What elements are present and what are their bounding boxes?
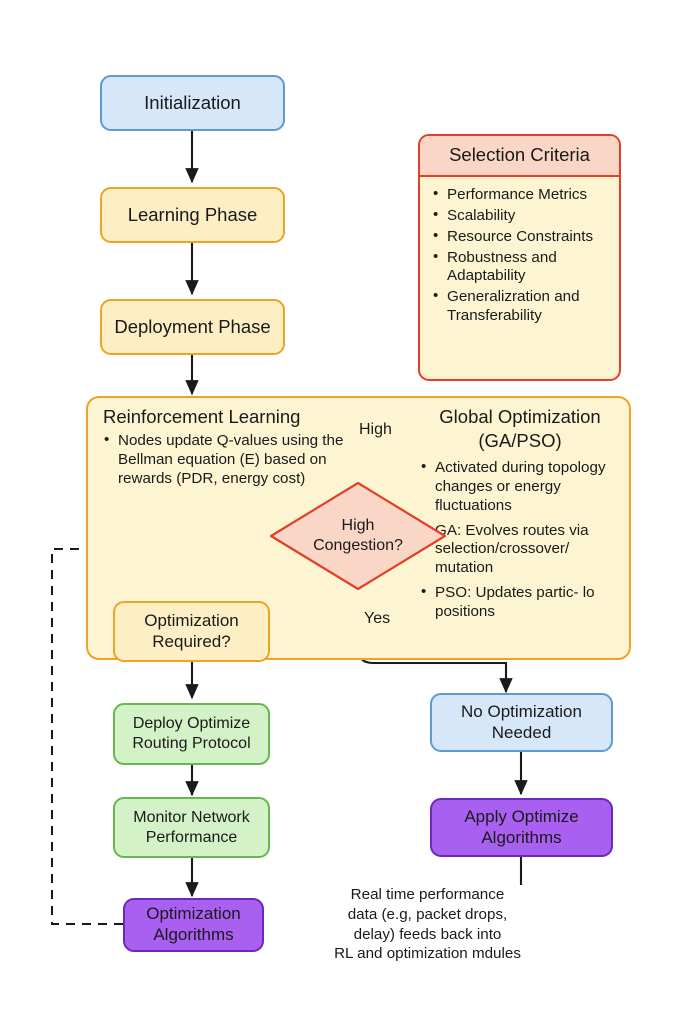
decision-label: High Congestion?	[268, 480, 448, 592]
flowchart-canvas: Initialization Learning Phase Deployment…	[0, 0, 685, 1027]
selection-criteria-card: Selection Criteria Performance Metrics S…	[418, 134, 621, 381]
selection-criteria-header: Selection Criteria	[420, 136, 619, 177]
node-no-optimization-line1: No Optimization	[461, 702, 582, 723]
node-deployment-phase-label: Deployment Phase	[114, 316, 270, 339]
list-item: Robustness and Adaptability	[432, 249, 609, 287]
node-initialization[interactable]: Initialization	[100, 75, 285, 131]
list-item: Scalability	[432, 207, 609, 226]
list-item: GA: Evolves routes via selection/crossov…	[420, 522, 620, 579]
node-no-optimization-needed[interactable]: No Optimization Needed	[430, 693, 613, 752]
global-optimization-list: Activated during topology changes or ene…	[420, 459, 620, 622]
node-optimization-algorithms-line1: Optimization	[146, 904, 240, 925]
selection-criteria-body: Performance Metrics Scalability Resource…	[420, 177, 619, 336]
feedback-caption-line4: RL and optimization mdules	[290, 944, 565, 964]
selection-criteria-list: Performance Metrics Scalability Resource…	[432, 186, 609, 326]
edge-label-yes: Yes	[364, 610, 390, 628]
node-deploy-routing-line2: Routing Protocol	[132, 734, 250, 754]
list-item: Activated during topology changes or ene…	[420, 459, 620, 516]
node-initialization-label: Initialization	[144, 92, 241, 115]
feedback-caption-line2: data (e.g, packet drops,	[290, 905, 565, 925]
feedback-caption-line3: delay) feeds back into	[290, 925, 565, 945]
node-deployment-phase[interactable]: Deployment Phase	[100, 299, 285, 355]
reinforcement-learning-heading: Reinforcement Learning	[103, 406, 348, 428]
node-optimization-algorithms-line2: Algorithms	[153, 925, 233, 946]
node-monitor-network-line2: Performance	[146, 828, 238, 848]
node-learning-phase[interactable]: Learning Phase	[100, 187, 285, 243]
decision-label-line2: Congestion?	[313, 536, 403, 556]
node-deploy-routing-protocol[interactable]: Deploy Optimize Routing Protocol	[113, 703, 270, 765]
node-optimization-required-line2: Required?	[152, 632, 230, 653]
reinforcement-learning-section: Reinforcement Learning Nodes update Q-va…	[103, 406, 348, 491]
global-optimization-section: Global Optimization (GA/PSO) Activated d…	[420, 406, 620, 624]
global-optimization-heading-line1: Global Optimization	[420, 406, 620, 428]
node-monitor-network-performance[interactable]: Monitor Network Performance	[113, 797, 270, 858]
node-monitor-network-line1: Monitor Network	[133, 808, 249, 828]
node-deploy-routing-line1: Deploy Optimize	[133, 714, 250, 734]
decision-high-congestion[interactable]: High Congestion?	[268, 480, 448, 592]
node-no-optimization-line2: Needed	[492, 723, 552, 744]
list-item: PSO: Updates partic- lo positions	[420, 584, 620, 622]
decision-label-line1: High	[342, 516, 375, 536]
edge-label-high: High	[359, 421, 392, 439]
feedback-caption: Real time performance data (e.g, packet …	[290, 885, 565, 964]
list-item: Generalizration and Transferability	[432, 288, 609, 326]
global-optimization-heading-line2: (GA/PSO)	[420, 430, 620, 452]
node-optimization-algorithms[interactable]: Optimization Algorithms	[123, 898, 264, 952]
node-apply-optimize-algorithms[interactable]: Apply Optimize Algorithms	[430, 798, 613, 857]
node-apply-optimize-line1: Apply Optimize	[464, 807, 578, 828]
list-item: Performance Metrics	[432, 186, 609, 205]
list-item: Resource Constraints	[432, 228, 609, 247]
feedback-caption-line1: Real time performance	[290, 885, 565, 905]
node-optimization-required[interactable]: Optimization Required?	[113, 601, 270, 662]
node-optimization-required-line1: Optimization	[144, 611, 238, 632]
node-apply-optimize-line2: Algorithms	[481, 828, 561, 849]
node-learning-phase-label: Learning Phase	[128, 204, 258, 227]
